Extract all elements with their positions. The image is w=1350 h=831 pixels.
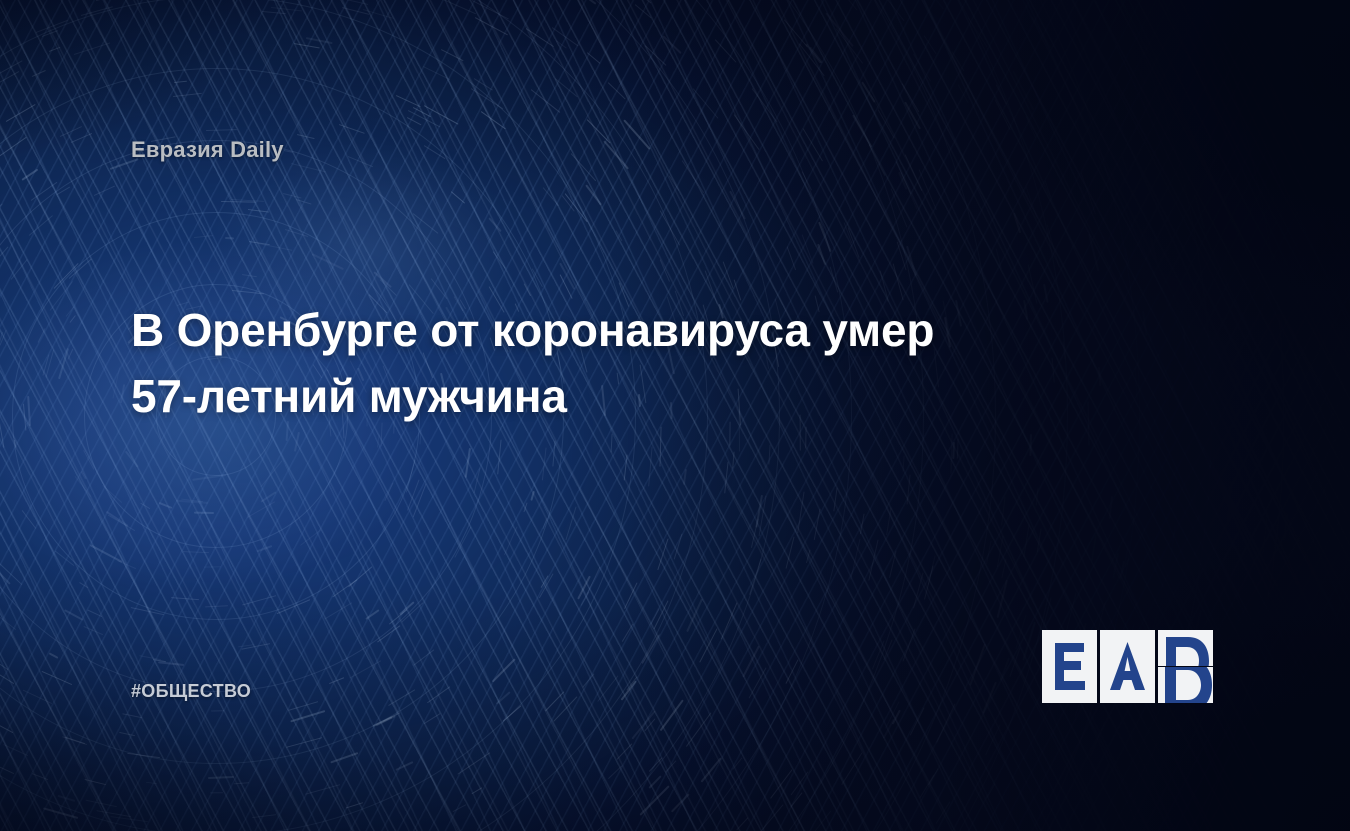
logo-tile-d-lower (1158, 667, 1213, 703)
logo-tile-e (1042, 630, 1097, 703)
logo-tile-a (1100, 630, 1155, 703)
social-card: Евразия Daily В Оренбурге от коронавирус… (0, 0, 1350, 831)
ead-logo[interactable] (1042, 630, 1213, 703)
logo-tile-d (1158, 630, 1213, 703)
category-tag[interactable]: #ОБЩЕСТВО (131, 681, 251, 702)
logo-tile-d-upper (1158, 630, 1213, 666)
card-content: Евразия Daily В Оренбурге от коронавирус… (0, 0, 1350, 831)
headline-line-1: В Оренбурге от коронавируса умер (131, 297, 1131, 363)
article-headline: В Оренбурге от коронавируса умер 57-летн… (131, 297, 1131, 429)
site-name: Евразия Daily (131, 137, 284, 163)
headline-line-2: 57-летний мужчина (131, 363, 1131, 429)
